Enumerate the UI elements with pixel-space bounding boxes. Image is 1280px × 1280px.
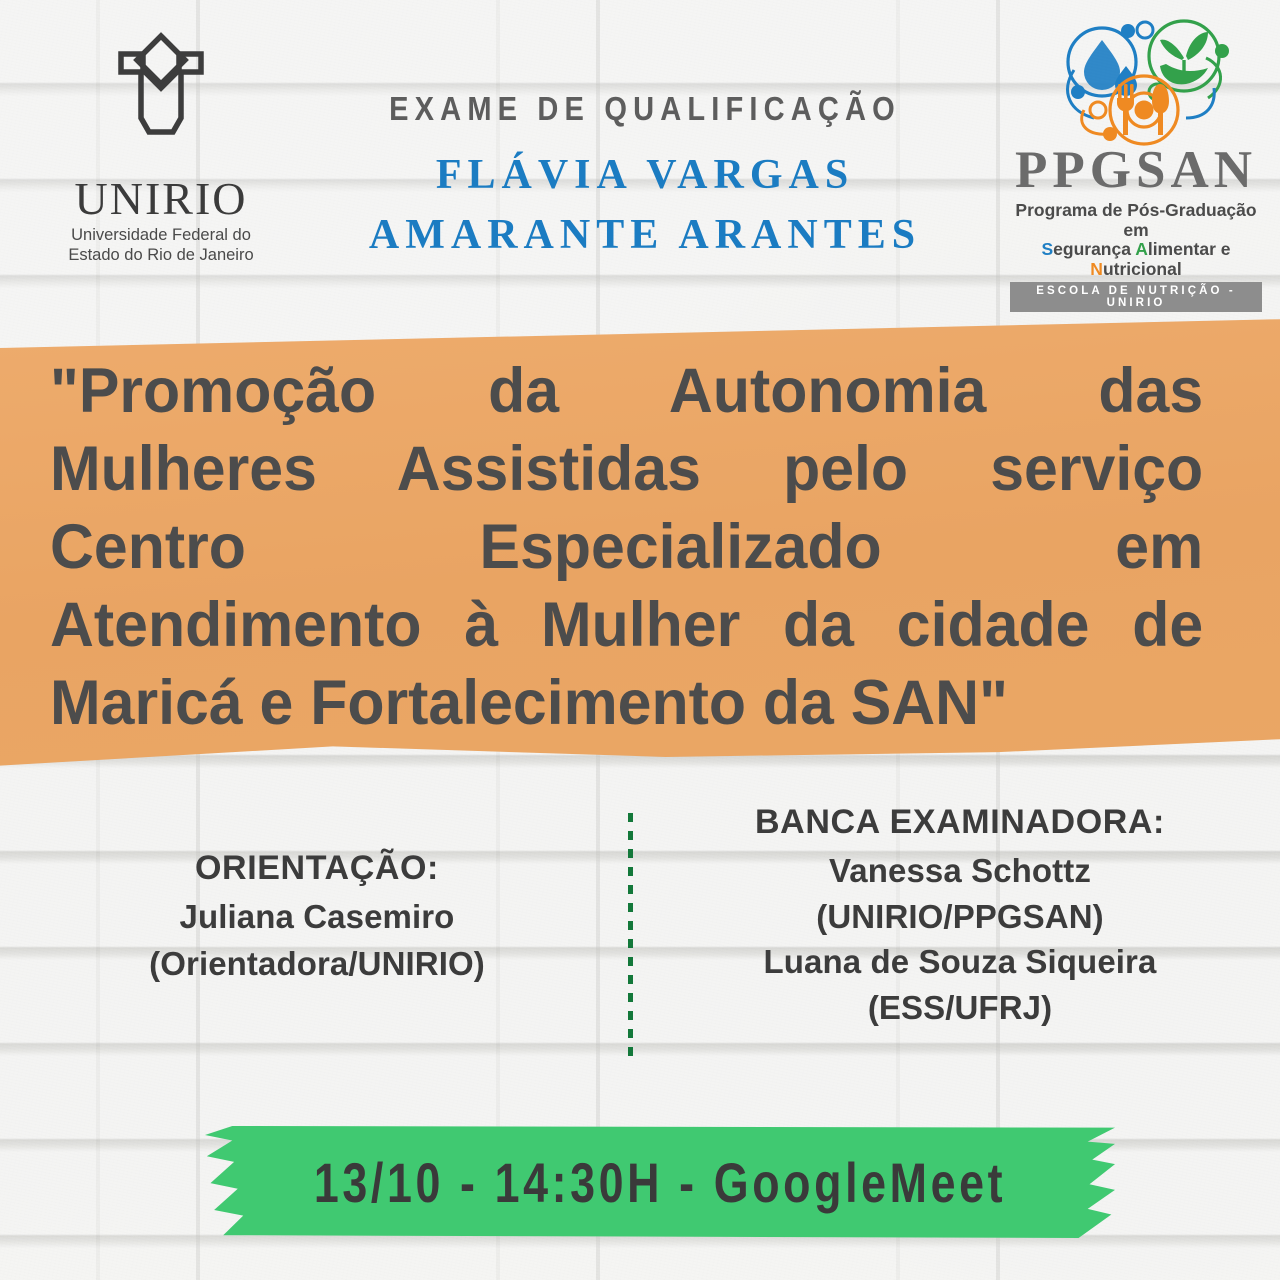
committee-member-2-affiliation: (ESS/UFRJ) <box>660 985 1260 1031</box>
committee-member-2-name: Luana de Souza Siqueira <box>660 939 1260 985</box>
poster-root: UNIRIO Universidade Federal do Estado do… <box>0 0 1280 1280</box>
ppgsan-icon-cluster <box>1010 14 1262 146</box>
advising-column: ORIENTAÇÃO: Juliana Casemiro (Orientador… <box>28 795 606 988</box>
title-line-1: "Promoção da Autonomia das <box>50 352 1203 430</box>
ppgsan-logo: PPGSAN Programa de Pós-Graduação em Segu… <box>1010 14 1262 312</box>
thesis-title-band: "Promoção da Autonomia das Mulheres Assi… <box>0 300 1280 780</box>
committee-member-1-affiliation: (UNIRIO/PPGSAN) <box>660 894 1260 940</box>
committee-member-1-name: Vanessa Schottz <box>660 848 1260 894</box>
ppgsan-tagline-line1: Programa de Pós-Graduação em <box>1010 201 1262 240</box>
advisor-affiliation: (Orientadora/UNIRIO) <box>28 941 606 988</box>
event-label: EXAME DE QUALIFICAÇÃO <box>341 90 948 128</box>
ppgsan-limentar: limentar e <box>1148 239 1231 259</box>
title-line-4: Atendimento à Mulher da cidade de <box>50 586 1203 664</box>
candidate-name-line2: AMARANTE ARANTES <box>300 206 990 266</box>
schedule-text: 13/10 - 14:30H - GoogleMeet <box>296 1126 1024 1238</box>
unirio-logo: UNIRIO Universidade Federal do Estado do… <box>36 22 286 265</box>
poster-header: UNIRIO Universidade Federal do Estado do… <box>0 0 1280 330</box>
schedule-footer: 13/10 - 14:30H - GoogleMeet <box>0 1118 1280 1268</box>
committee-heading: BANCA EXAMINADORA: <box>660 803 1260 842</box>
header-titles: EXAME DE QUALIFICAÇÃO FLÁVIA VARGAS AMAR… <box>300 90 990 265</box>
ppgsan-wordmark: PPGSAN <box>1010 144 1262 197</box>
unirio-crest-icon <box>36 22 286 174</box>
ppgsan-n: N <box>1090 259 1103 279</box>
ppgsan-s: S <box>1041 239 1053 259</box>
advising-heading: ORIENTAÇÃO: <box>28 849 606 888</box>
ppgsan-eguranca: egurança <box>1053 239 1135 259</box>
title-line-2: Mulheres Assistidas pelo serviço <box>50 430 1203 508</box>
ppgsan-tagline-line2: Segurança Alimentar e Nutricional <box>1010 240 1262 279</box>
title-line-3: Centro Especializado em <box>50 508 1203 586</box>
unirio-wordmark: UNIRIO <box>36 176 286 222</box>
committee-column: BANCA EXAMINADORA: Vanessa Schottz (UNIR… <box>660 795 1260 1030</box>
unirio-subtitle-line2: Estado do Rio de Janeiro <box>36 245 286 265</box>
ppgsan-a: A <box>1135 239 1148 259</box>
unirio-subtitle-line1: Universidade Federal do <box>36 225 286 245</box>
title-line-5: Maricá e Fortalecimento da SAN" <box>50 664 1203 742</box>
candidate-name-line1: FLÁVIA VARGAS <box>300 146 990 206</box>
ppgsan-utricional: utricional <box>1103 259 1182 279</box>
thesis-title-text: "Promoção da Autonomia das Mulheres Assi… <box>50 352 1203 743</box>
people-section: ORIENTAÇÃO: Juliana Casemiro (Orientador… <box>0 795 1280 1095</box>
advisor-name: Juliana Casemiro <box>28 894 606 941</box>
dotted-divider <box>628 813 633 1058</box>
